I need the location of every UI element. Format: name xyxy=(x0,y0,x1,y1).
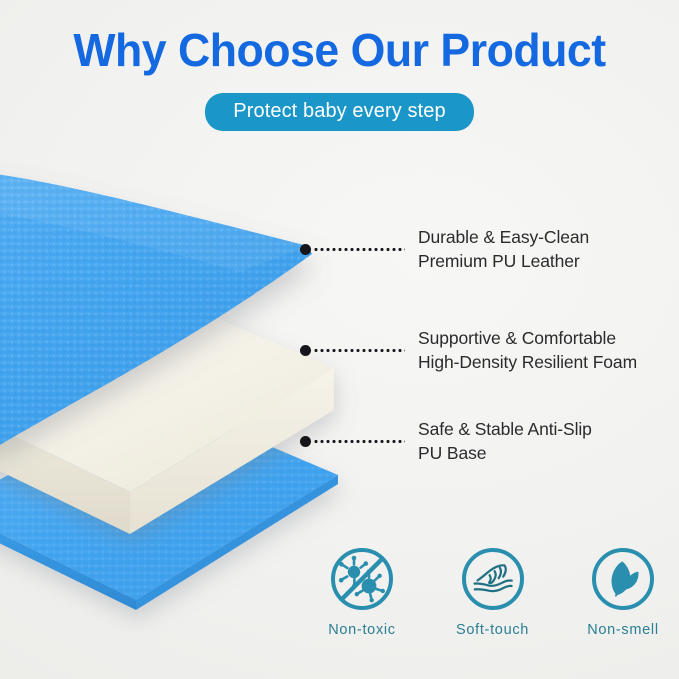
feature-non-toxic: Non-toxic xyxy=(306,545,418,639)
page-title: Why Choose Our Product xyxy=(10,22,669,78)
callout-dot-icon xyxy=(300,244,311,255)
hand-soft-surface-icon xyxy=(459,545,527,613)
callout-line-2: High-Density Resilient Foam xyxy=(418,350,637,374)
virus-slash-icon xyxy=(328,545,396,613)
feature-soft-touch: Soft-touch xyxy=(437,545,549,639)
callout-text: Durable & Easy-Clean Premium PU Leather xyxy=(418,225,589,273)
callout-text: Safe & Stable Anti-Slip PU Base xyxy=(418,417,592,465)
callout-line-1: Supportive & Comfortable xyxy=(418,326,637,350)
callout-leader-line xyxy=(313,440,405,443)
callout-dot-icon xyxy=(300,345,311,356)
product-infographic: Why Choose Our Product Protect baby ever… xyxy=(0,0,679,679)
leaf-icon xyxy=(589,545,657,613)
callout-leader-line xyxy=(313,248,405,251)
feature-label: Non-toxic xyxy=(306,622,418,639)
callout-line-1: Durable & Easy-Clean xyxy=(418,225,589,249)
feature-label: Soft-touch xyxy=(437,622,549,639)
callout-dot-icon xyxy=(300,436,311,447)
tagline-badge-wrap: Protect baby every step xyxy=(0,93,679,131)
callout-leader-line xyxy=(313,349,405,352)
callout-line-2: PU Base xyxy=(418,441,592,465)
tagline-badge: Protect baby every step xyxy=(205,93,473,131)
callout-line-2: Premium PU Leather xyxy=(418,249,589,273)
callout-text: Supportive & Comfortable High-Density Re… xyxy=(418,326,637,374)
feature-label: Non-smell xyxy=(567,622,679,639)
feature-non-smell: Non-smell xyxy=(567,545,679,639)
feature-badges: Non-toxic Soft-touch xyxy=(306,545,679,639)
callout-line-1: Safe & Stable Anti-Slip xyxy=(418,417,592,441)
